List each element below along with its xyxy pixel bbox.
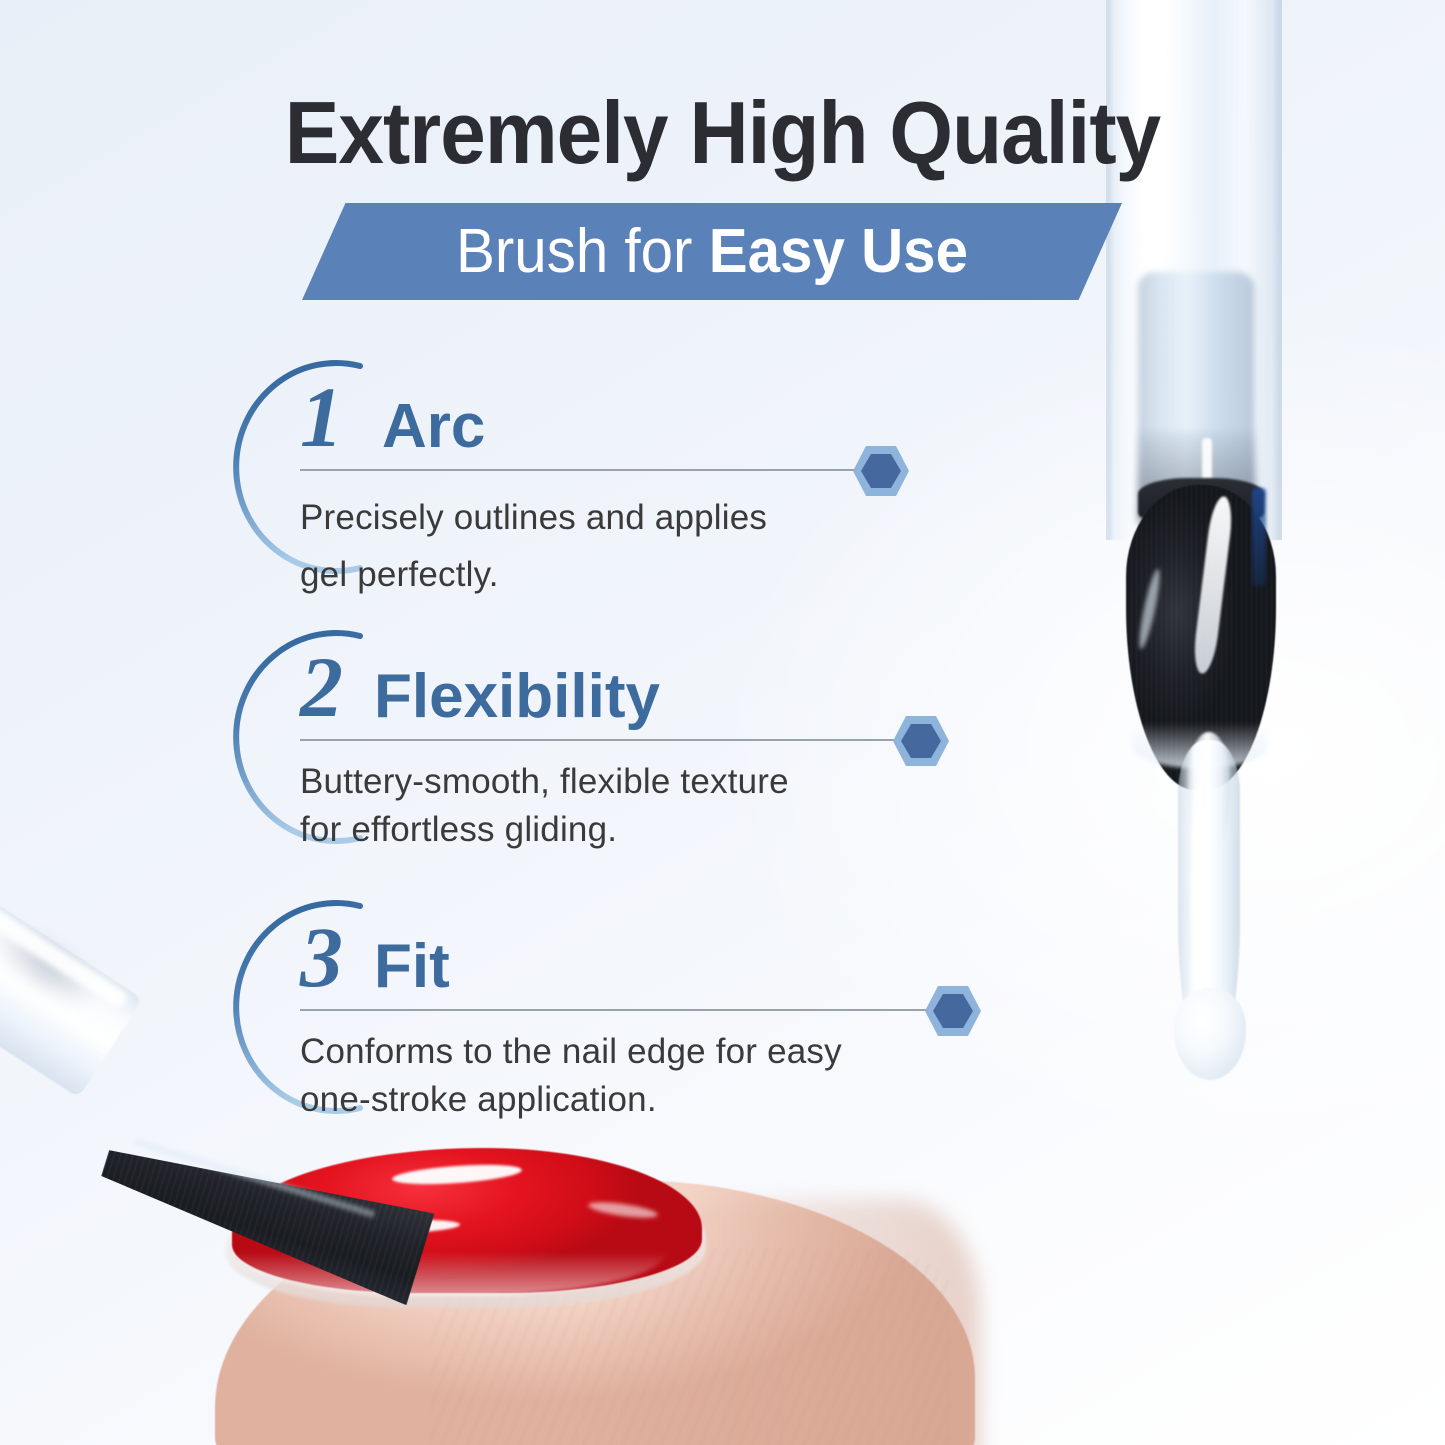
brush-handle-left-edge	[1106, 0, 1114, 540]
feature-title-2: Flexibility	[374, 666, 660, 728]
feature-description-1: Precisely outlines and applies gel perfe…	[300, 490, 767, 603]
hexagon-marker-icon-2	[892, 712, 950, 770]
feature-number-3: 3	[300, 914, 343, 1000]
brush-handle-right-edge	[1272, 0, 1282, 540]
infographic-root: Extremely High Quality Brush for Easy Us…	[0, 0, 1445, 1445]
feature-description-3: Conforms to the nail edge for easy one-s…	[300, 1028, 842, 1123]
subtitle-bold-text: Easy Use	[709, 216, 968, 287]
feature-description-2: Buttery-smooth, flexible texture for eff…	[300, 758, 789, 853]
feature-item-2: 2 Flexibility Buttery-smooth, flexible t…	[212, 622, 1012, 852]
hexagon-marker-icon-1	[852, 442, 910, 500]
feature-divider-3	[300, 1009, 950, 1011]
feature-divider-2	[300, 739, 920, 741]
subtitle-light-text: Brush for	[456, 216, 692, 287]
feature-number-1: 1	[300, 374, 343, 460]
page-title: Extremely High Quality	[51, 82, 1395, 184]
feature-number-2: 2	[300, 644, 343, 730]
feature-item-1: 1 Arc Precisely outlines and applies gel…	[212, 352, 972, 582]
feature-divider-1	[300, 469, 880, 471]
brush-head-blue-glint	[1252, 488, 1266, 586]
subtitle-banner-text: Brush for Easy Use	[327, 203, 1098, 300]
gel-drip-highlight	[1192, 780, 1206, 1010]
feature-title-3: Fit	[374, 936, 450, 998]
feature-item-3: 3 Fit Conforms to the nail edge for easy…	[212, 892, 1042, 1122]
feature-title-1: Arc	[382, 396, 485, 458]
gel-drip-bead	[1174, 988, 1246, 1080]
hexagon-marker-icon-3	[924, 982, 982, 1040]
